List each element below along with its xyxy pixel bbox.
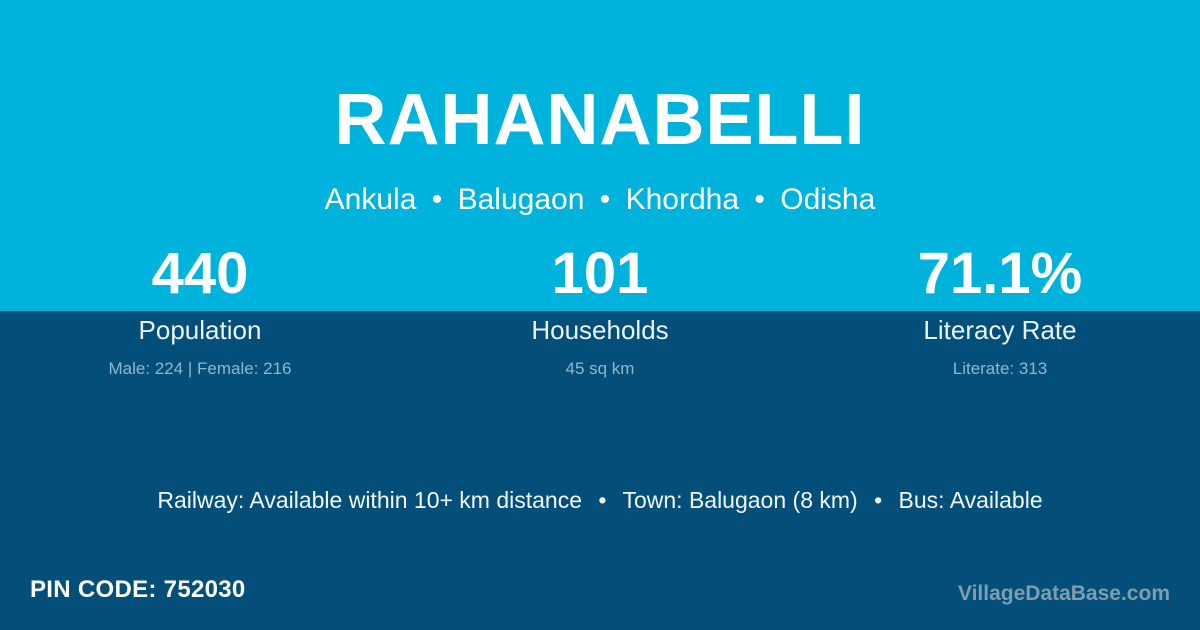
- amenities-row: Railway: Available within 10+ km distanc…: [0, 486, 1200, 516]
- stat-label: Households: [400, 314, 800, 347]
- breadcrumb-part-district: Khordha: [626, 183, 739, 216]
- site-watermark: VillageDataBase.com: [958, 581, 1170, 606]
- amenity-bus: Bus: Available: [899, 487, 1043, 513]
- stats-row: 440 Population Male: 224 | Female: 216 1…: [0, 243, 1200, 379]
- stat-literacy-rate: 71.1% Literacy Rate Literate: 313: [800, 243, 1200, 379]
- stat-subtext: 45 sq km: [400, 359, 800, 379]
- stat-households: 101 Households 45 sq km: [400, 243, 800, 379]
- stat-value: 101: [400, 243, 800, 305]
- stat-population: 440 Population Male: 224 | Female: 216: [0, 243, 400, 379]
- stat-value: 440: [0, 243, 400, 305]
- breadcrumb-separator: •: [593, 183, 618, 216]
- pin-code: PIN CODE: 752030: [30, 576, 246, 605]
- stat-value: 71.1%: [800, 243, 1200, 305]
- stat-label: Population: [0, 314, 400, 347]
- breadcrumb-part-block: Balugaon: [458, 183, 585, 216]
- breadcrumb-separator: •: [747, 183, 772, 216]
- breadcrumb: Ankula • Balugaon • Khordha • Odisha: [0, 182, 1200, 218]
- stat-label: Literacy Rate: [800, 314, 1200, 347]
- amenity-railway: Railway: Available within 10+ km distanc…: [157, 487, 582, 513]
- amenity-separator: •: [864, 487, 892, 513]
- breadcrumb-part-village: Ankula: [325, 183, 417, 216]
- village-info-card: RAHANABELLI Ankula • Balugaon • Khordha …: [0, 0, 1200, 630]
- stat-subtext: Male: 224 | Female: 216: [0, 359, 400, 379]
- amenity-town: Town: Balugaon (8 km): [622, 487, 857, 513]
- page-title: RAHANABELLI: [0, 84, 1200, 156]
- stat-subtext: Literate: 313: [800, 359, 1200, 379]
- breadcrumb-part-state: Odisha: [780, 183, 875, 216]
- breadcrumb-separator: •: [425, 183, 450, 216]
- amenity-separator: •: [588, 487, 616, 513]
